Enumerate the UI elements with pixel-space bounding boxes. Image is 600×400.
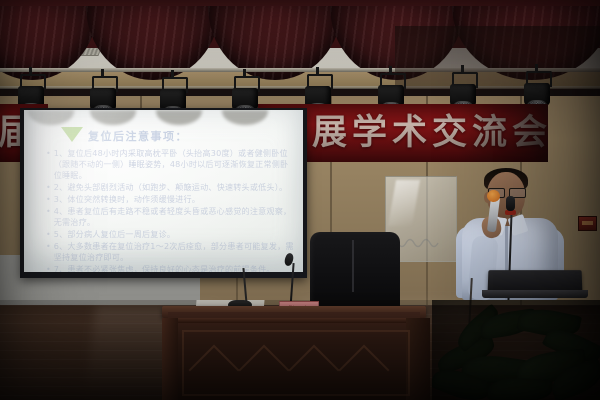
office-chair[interactable] — [310, 232, 400, 312]
ceiling-shadow — [395, 26, 600, 90]
table-left-edge — [162, 318, 178, 400]
table-moulding — [166, 318, 422, 323]
conference-room-photo: 届 进展学术交流会 复位后注意事项： •1、复位后48小时内采取高枕平卧（头抬高… — [0, 0, 600, 400]
chair-seam — [352, 240, 354, 292]
laptop-base — [482, 290, 588, 298]
fire-alarm-box — [578, 216, 597, 231]
laptop-screen[interactable] — [488, 270, 583, 292]
projection-screen[interactable]: 复位后注意事项： •1、复位后48小时内采取高枕平卧（头抬高30度）或者健侧卧位… — [24, 110, 303, 272]
stand-microphone-icon — [506, 196, 515, 211]
banner-shadow — [458, 104, 548, 162]
